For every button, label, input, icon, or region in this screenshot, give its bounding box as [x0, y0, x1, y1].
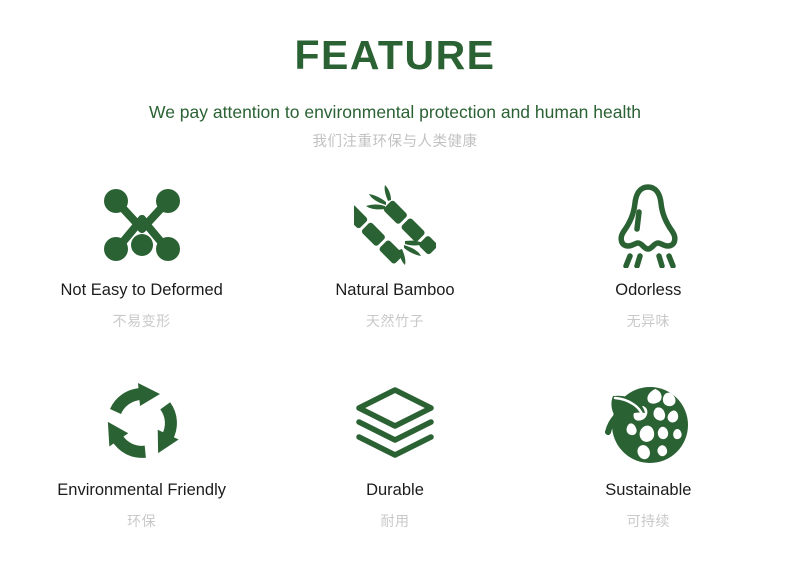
feature-item-sustainable: Sustainable 可持续 [522, 373, 775, 569]
feature-section: FEATURE We pay attention to environmenta… [0, 0, 790, 576]
feature-item-odorless: Odorless 无异味 [522, 177, 775, 373]
feature-label-chinese: 环保 [127, 513, 156, 530]
feature-label-english: Not Easy to Deformed [61, 281, 223, 301]
feature-label-chinese: 耐用 [380, 513, 409, 530]
recycle-arrows-icon [99, 373, 185, 473]
molecule-nodes-icon [101, 177, 183, 273]
nose-icon [607, 177, 689, 273]
feature-label-chinese: 可持续 [627, 513, 671, 530]
feature-item-durable: Durable 耐用 [268, 373, 521, 569]
feature-label-chinese: 天然竹子 [366, 313, 424, 330]
feature-label-english: Natural Bamboo [335, 281, 454, 301]
page-title: FEATURE [0, 34, 790, 77]
subtitle-chinese: 我们注重环保与人类健康 [0, 134, 790, 151]
feature-label-english: Environmental Friendly [57, 481, 226, 501]
subtitle-english: We pay attention to environmental protec… [0, 102, 790, 123]
feature-item-environmental-friendly: Environmental Friendly 环保 [15, 373, 268, 569]
bamboo-stalks-icon [354, 177, 436, 273]
globe-leaf-icon [605, 373, 691, 473]
feature-label-chinese: 不易变形 [113, 313, 171, 330]
feature-item-natural-bamboo: Natural Bamboo 天然竹子 [268, 177, 521, 373]
feature-label-chinese: 无异味 [627, 313, 671, 330]
section-header: FEATURE We pay attention to environmenta… [0, 0, 790, 151]
feature-item-not-easy-to-deformed: Not Easy to Deformed 不易变形 [15, 177, 268, 373]
layers-stack-icon [353, 373, 437, 473]
feature-label-english: Durable [366, 481, 424, 501]
feature-label-english: Sustainable [605, 481, 691, 501]
feature-grid: Not Easy to Deformed 不易变形 [15, 177, 775, 569]
feature-label-english: Odorless [615, 281, 681, 301]
